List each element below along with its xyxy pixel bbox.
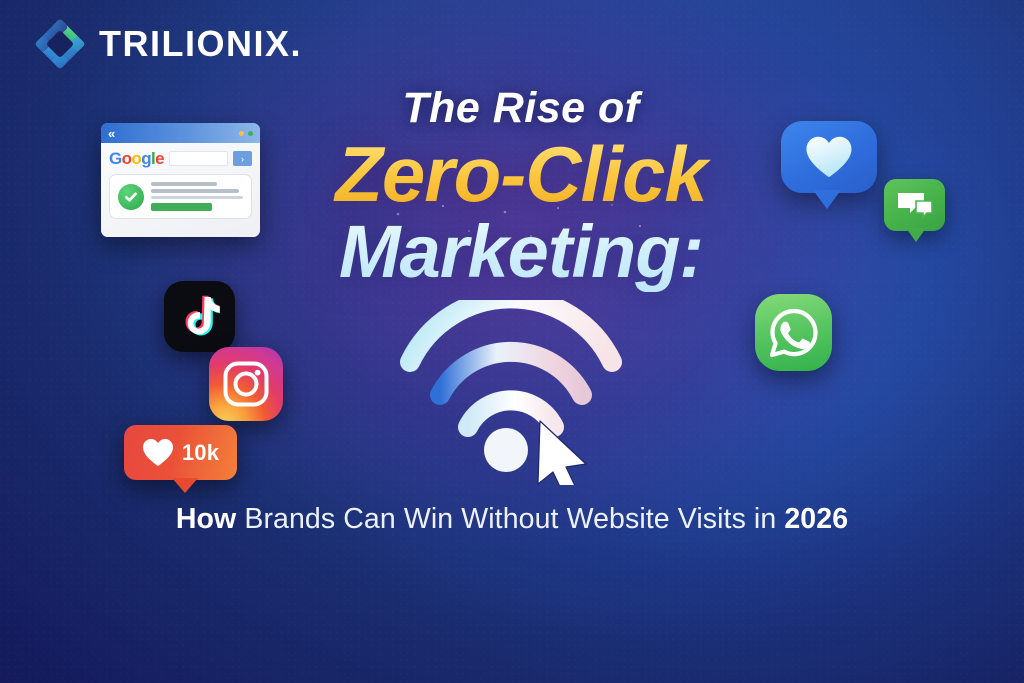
- brand-logo[interactable]: TRILIONIX.: [33, 17, 301, 71]
- headline-line-3: Marketing:: [18, 212, 1024, 292]
- trilionix-interlock-diamond-icon: [33, 17, 87, 71]
- headline-block: The Rise of Zero-Click Marketing:: [0, 86, 1024, 292]
- whatsapp-phone-bubble-icon: [768, 307, 820, 359]
- tiktok-note-icon: [180, 295, 220, 339]
- badge-tail: [172, 478, 198, 493]
- wifi-signal-with-cursor-icon: [400, 300, 622, 485]
- heart-icon: [142, 438, 174, 467]
- instagram-icon[interactable]: [209, 347, 283, 421]
- logo-wordmark: TRILIONIX.: [99, 23, 301, 65]
- headline-line-2: Zero-Click: [18, 133, 1024, 216]
- like-count-label: 10k: [182, 440, 219, 466]
- poster-canvas: TRILIONIX. The Rise of Zero-Click Market…: [0, 0, 1024, 683]
- whatsapp-icon[interactable]: [755, 294, 832, 371]
- headline-line-1: The Rise of: [18, 86, 1024, 131]
- subtitle-mid: Brands Can Win Without Website Visits in: [236, 503, 784, 535]
- like-count-badge[interactable]: 10k: [124, 425, 237, 480]
- subtitle-bold-lead: How: [176, 503, 236, 535]
- instagram-camera-icon: [222, 360, 270, 408]
- subtitle-block: How Brands Can Win Without Website Visit…: [0, 498, 1024, 541]
- subtitle-bold-year: 2026: [784, 503, 848, 535]
